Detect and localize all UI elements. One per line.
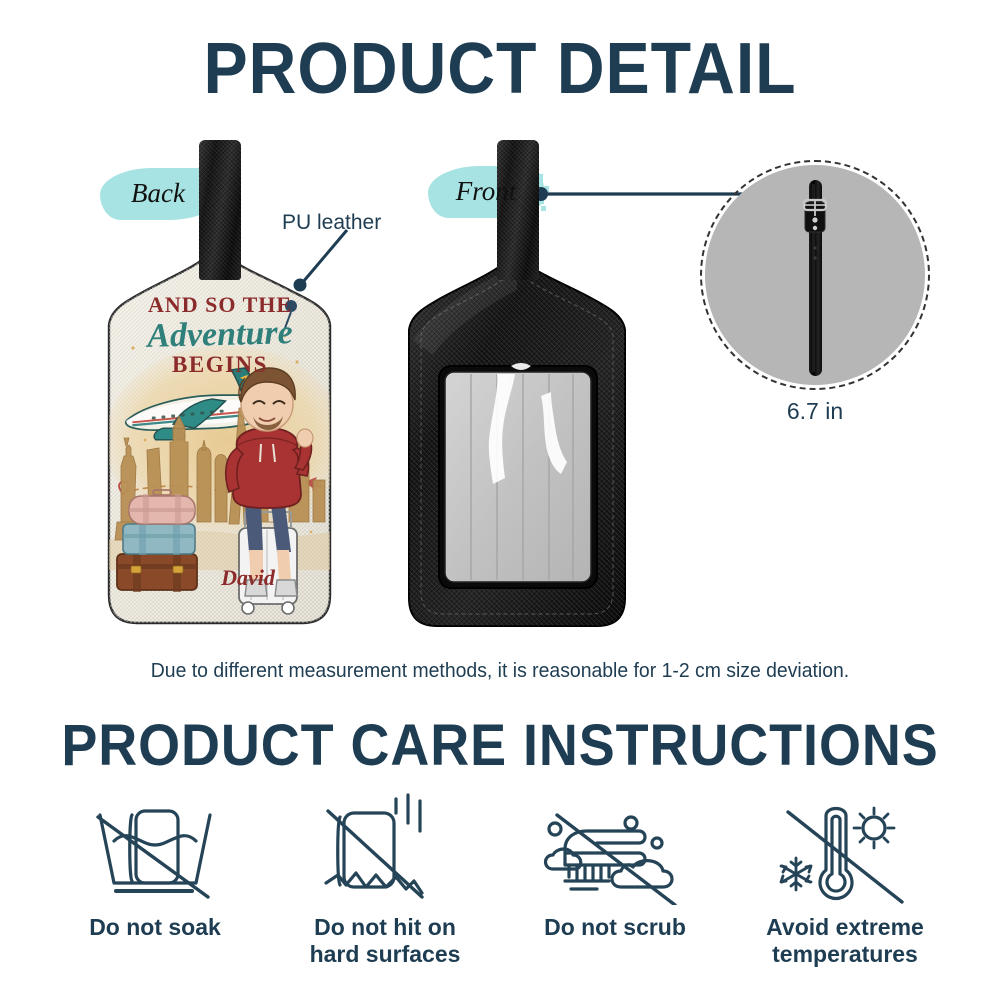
care-item-no-soak: Do not soak [40, 790, 270, 990]
care-caption-no-scrub: Do not scrub [544, 914, 686, 941]
care-item-no-extreme-temp: Avoid extreme temperatures [730, 790, 960, 990]
no-scrub-icon [535, 790, 695, 908]
care-instructions-grid: Do not soak Do not hit on hard surfaces [40, 790, 960, 990]
no-impact-icon [310, 790, 460, 908]
strap-detail-circle [700, 160, 930, 390]
no-soak-icon [80, 790, 230, 908]
view-label-back: Back [100, 168, 216, 220]
care-item-no-scrub: Do not scrub [500, 790, 730, 990]
view-label-front-text: Front [428, 166, 544, 218]
care-caption-no-extreme-temp: Avoid extreme temperatures [766, 914, 924, 967]
care-caption-no-soak: Do not soak [89, 914, 221, 941]
no-extreme-temp-icon [768, 790, 923, 908]
care-section-title: PRODUCT CARE INSTRUCTIONS [35, 712, 965, 779]
view-label-back-text: Back [100, 168, 216, 220]
page-title: PRODUCT DETAIL [40, 28, 960, 110]
care-caption-no-impact: Do not hit on hard surfaces [310, 914, 461, 967]
care-item-no-impact: Do not hit on hard surfaces [270, 790, 500, 990]
pu-leather-leader-line [243, 226, 353, 306]
view-label-front: Front [428, 166, 544, 218]
measurement-disclaimer: Due to different measurement methods, it… [15, 660, 985, 683]
strap-size-label: 6.7 in [700, 398, 930, 425]
strap-photo [787, 174, 843, 380]
